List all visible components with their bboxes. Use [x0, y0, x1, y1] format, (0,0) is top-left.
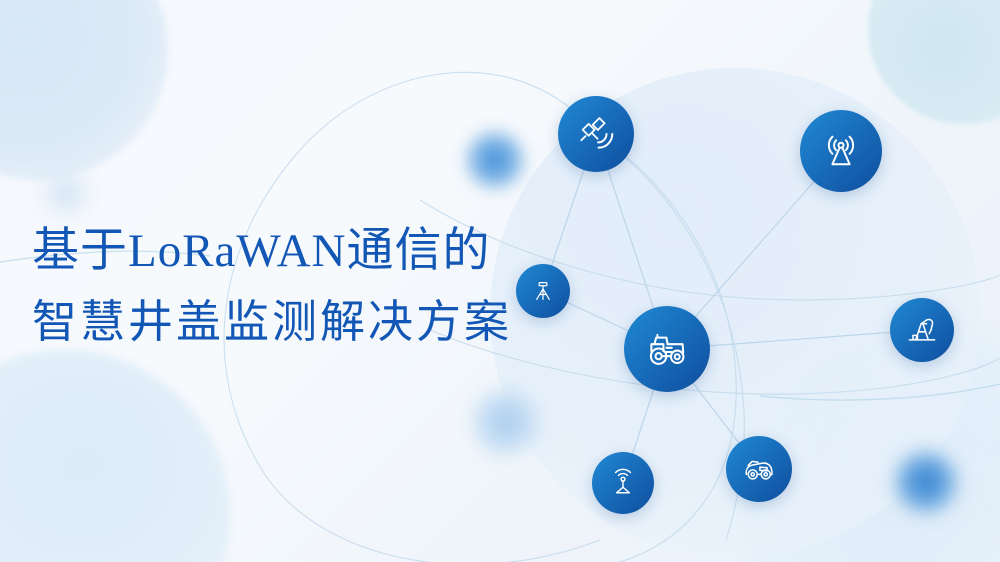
soft-circle-top-left — [0, 0, 168, 180]
tractor-icon[interactable] — [624, 306, 710, 392]
satellite-icon[interactable] — [558, 96, 634, 172]
accent-dot-bottom-right — [892, 448, 960, 516]
title-slide: 基于LoRaWAN通信的 智慧井盖监测解决方案 — [0, 0, 1000, 562]
accent-dot-lower-center — [470, 386, 542, 458]
title-line-primary: 基于LoRaWAN通信的 — [32, 228, 552, 275]
soft-circle-top-right — [868, 0, 1000, 124]
orbit-sweep-right — [760, 384, 1000, 400]
soft-circle-bottom-left — [0, 350, 230, 562]
title-line-secondary: 智慧井盖监测解决方案 — [32, 299, 552, 344]
antenna-tower-icon[interactable] — [800, 110, 882, 192]
signal-beacon-icon[interactable] — [592, 452, 654, 514]
oil-pumpjack-icon[interactable] — [890, 298, 954, 362]
tripod-survey-icon[interactable] — [516, 264, 570, 318]
accent-dot-left — [38, 165, 94, 221]
page-title: 基于LoRaWAN通信的 智慧井盖监测解决方案 — [32, 228, 552, 344]
accent-dot-upper-center — [463, 128, 527, 192]
rover-vehicle-icon[interactable] — [726, 436, 792, 502]
